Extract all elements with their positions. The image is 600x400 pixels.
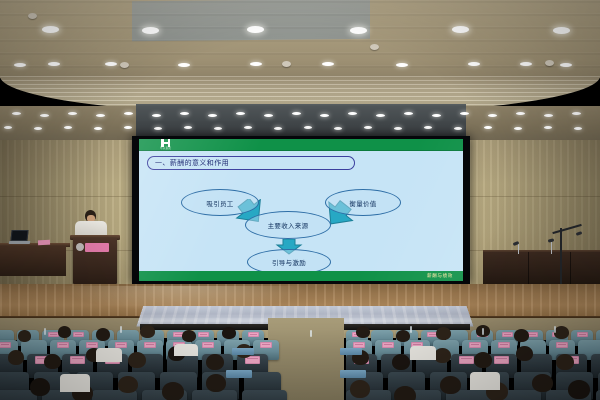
downlight <box>304 126 312 129</box>
downlight <box>292 112 301 115</box>
downlight <box>264 114 273 117</box>
downlight <box>184 126 192 129</box>
attendee-head <box>206 374 226 392</box>
seat-name-card <box>577 332 588 337</box>
downlight <box>376 114 385 117</box>
downlight <box>454 127 462 130</box>
downlight <box>208 114 217 117</box>
presentation-slide: 华兴集团 一、薪酬的意义和作用 <box>139 139 463 281</box>
attendee-head <box>556 354 574 370</box>
water-bottle <box>120 326 122 333</box>
company-logo: 华兴集团 <box>160 139 171 150</box>
logo-text: 华兴集团 <box>160 148 171 151</box>
laptop-screen <box>10 230 28 241</box>
downlight <box>348 112 357 115</box>
smoke-detector <box>545 60 554 66</box>
water-bottle <box>554 326 556 333</box>
podium-sign <box>85 243 109 252</box>
podium-emblem-icon <box>76 243 84 251</box>
downlight <box>560 63 572 67</box>
seat-desk <box>232 348 254 355</box>
audience-seat <box>242 390 287 400</box>
attendee-head <box>396 330 410 342</box>
downlight <box>460 112 469 115</box>
slide-title: 一、薪酬的意义和作用 <box>147 156 355 170</box>
downlight <box>404 112 413 115</box>
smoke-detector <box>28 13 37 19</box>
downlight <box>152 114 161 117</box>
smoke-detector <box>120 62 129 68</box>
seat-desk <box>340 348 362 355</box>
water-bottle <box>44 328 46 335</box>
diagram-node-attract: 吸引员工 <box>181 189 259 216</box>
downlight <box>488 114 497 117</box>
downlight <box>34 127 42 130</box>
attendee-head <box>440 376 461 394</box>
attendee-head <box>532 374 553 392</box>
seat-name-card <box>144 342 156 348</box>
attendee-head <box>434 348 451 363</box>
table-seam <box>570 252 571 286</box>
slide-header-bar: 华兴集团 <box>139 139 463 151</box>
attendee-head <box>118 376 138 393</box>
downlight <box>12 112 21 115</box>
downlight <box>468 62 480 66</box>
laptop <box>9 230 29 244</box>
attendee-head <box>222 327 236 339</box>
mic-stand <box>560 228 562 286</box>
downlight <box>320 114 329 117</box>
seat-name-card <box>498 342 510 348</box>
downlight <box>42 26 59 33</box>
downlight <box>214 127 222 130</box>
attendee-shirt <box>410 346 436 360</box>
downlight <box>553 27 570 34</box>
downlight <box>178 63 190 67</box>
downlight <box>396 63 408 67</box>
side-table <box>0 246 66 276</box>
attendee-head <box>356 326 370 338</box>
downlight <box>334 127 342 130</box>
slide-footer-bar: 薪酬与绩效 <box>139 271 463 281</box>
downlight <box>452 26 469 33</box>
seat-name-card <box>70 356 85 364</box>
ceiling-panel <box>0 0 600 78</box>
audience-seat <box>596 390 600 400</box>
attendee-head <box>30 378 50 396</box>
downlight <box>40 114 49 117</box>
seat-name-card <box>248 332 259 337</box>
downlight <box>364 126 372 129</box>
water-bottle <box>410 326 412 333</box>
downlight <box>180 112 189 115</box>
downlight <box>244 126 252 129</box>
downlight <box>4 126 12 129</box>
audience-area <box>0 318 600 400</box>
downlight <box>544 114 553 117</box>
downlight <box>154 127 162 130</box>
h-logo-icon <box>161 139 170 147</box>
downlight <box>544 126 552 129</box>
downlight <box>274 127 282 130</box>
downlight <box>142 27 159 34</box>
attendee-head <box>128 352 146 368</box>
attendee-head <box>474 352 492 368</box>
attendee-head <box>18 330 31 342</box>
downlight <box>424 126 432 129</box>
attendee-head <box>554 326 569 339</box>
seat-name-card <box>502 332 513 337</box>
diagram-node-income: 主要收入来源 <box>245 211 331 239</box>
seat-name-card <box>73 332 84 337</box>
downlight <box>68 112 77 115</box>
downlight <box>432 114 441 117</box>
paper-document <box>38 240 50 246</box>
diagram-node-measure: 衡量价值 <box>325 189 401 216</box>
downlight <box>64 126 72 129</box>
downlight <box>394 127 402 130</box>
attendee-head <box>162 382 184 400</box>
downlight <box>520 62 532 66</box>
downlight <box>514 127 522 130</box>
attendee-shirt <box>174 344 198 356</box>
seat-name-card <box>556 342 568 348</box>
attendee-head <box>568 380 590 399</box>
seat-name-card <box>202 342 214 348</box>
attendee-head <box>206 354 224 370</box>
downlight <box>350 27 367 34</box>
slide-footer-text: 薪酬与绩效 <box>427 273 453 279</box>
smoke-detector <box>370 44 379 50</box>
conference-table <box>483 252 600 286</box>
downlight <box>94 127 102 130</box>
downlight <box>236 112 245 115</box>
attendee-shirt <box>60 374 90 392</box>
attendee-head <box>436 327 451 340</box>
downlight <box>96 114 105 117</box>
seat-name-card <box>459 356 474 364</box>
seat-name-card <box>260 342 272 348</box>
seat-name-card <box>0 342 11 348</box>
attendee-head <box>182 330 196 342</box>
lecture-hall-photo: 华兴集团 一、薪酬的意义和作用 <box>0 0 600 400</box>
downlight <box>322 62 334 66</box>
attendee-shirt <box>96 348 122 362</box>
projection-screen: 华兴集团 一、薪酬的意义和作用 <box>132 136 470 284</box>
water-bottle <box>310 330 312 337</box>
downlight <box>572 112 581 115</box>
attendee-head <box>140 325 155 338</box>
ceiling-grain <box>0 0 600 78</box>
downlight <box>247 26 264 33</box>
downlight <box>48 62 60 66</box>
seat-name-card <box>57 342 69 348</box>
laptop-base <box>9 241 31 244</box>
attendee-head <box>394 386 416 400</box>
attendee-head <box>514 329 529 342</box>
downlight <box>105 62 117 66</box>
seat-name-card <box>469 342 481 348</box>
slide-body: 一、薪酬的意义和作用 <box>139 151 463 271</box>
attendee-head <box>350 380 370 398</box>
seat-name-card <box>494 356 509 364</box>
attendee-head <box>392 354 410 370</box>
downlight <box>516 112 525 115</box>
seat-name-card <box>198 332 209 337</box>
downlight <box>124 126 132 129</box>
downlight <box>574 127 582 130</box>
attendee-head <box>8 350 24 365</box>
downlight <box>250 62 262 66</box>
downlight <box>124 112 133 115</box>
seat-name-card <box>382 342 394 348</box>
attendee-shirt <box>470 372 500 390</box>
table-seam <box>528 252 529 286</box>
attendee-head <box>44 354 61 369</box>
water-bottle <box>482 328 484 335</box>
attendee-head <box>58 326 71 338</box>
seat-desk <box>340 370 366 378</box>
smoke-detector <box>282 61 291 67</box>
downlight <box>484 126 492 129</box>
seat-desk <box>226 370 252 378</box>
downlight <box>14 63 26 67</box>
attendee-head <box>96 328 110 341</box>
attendee-head <box>516 346 533 361</box>
